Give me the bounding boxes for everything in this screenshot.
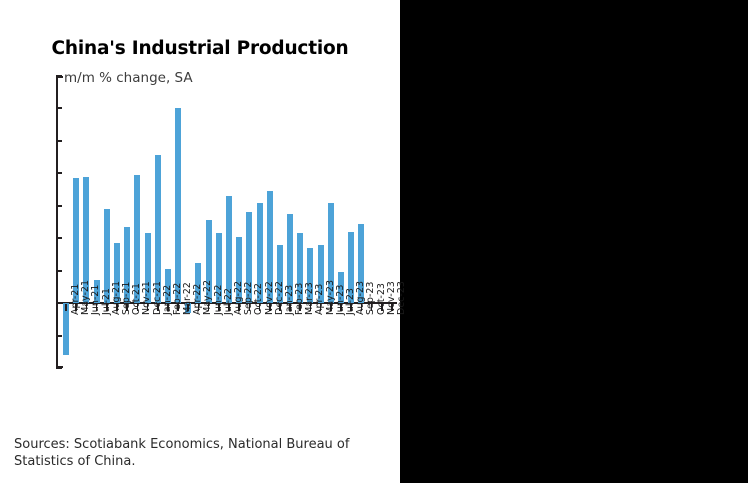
y-axis-tick [56, 107, 62, 109]
source-note: Sources: Scotiabank Economics, National … [14, 436, 389, 470]
x-axis-label: Jul-21 [101, 288, 112, 315]
x-axis-label: Oct-23 [376, 283, 387, 315]
y-axis-line [56, 76, 58, 368]
chart-panel: China's Industrial Production m/m % chan… [0, 0, 400, 483]
x-axis-label: Nov-21 [141, 281, 152, 315]
x-axis-label: Apr-23 [314, 284, 325, 315]
y-axis-tick [56, 75, 62, 77]
x-axis-label: Oct-22 [253, 283, 264, 315]
y-axis-tick [56, 172, 62, 174]
x-axis-label: Dec-23 [396, 281, 407, 315]
x-axis-label: Jun-22 [213, 285, 224, 315]
y-axis-tick [56, 140, 62, 142]
y-axis-tick [56, 335, 62, 337]
y-axis-tick [56, 270, 62, 272]
y-axis-tick [56, 205, 62, 207]
x-axis-label: Dec-21 [152, 281, 163, 315]
x-axis-tick [65, 304, 67, 311]
x-axis-label: May-22 [202, 280, 213, 315]
chart-title: China's Industrial Production [0, 38, 400, 59]
y-axis-tick [56, 367, 62, 369]
bar [175, 108, 181, 303]
x-axis-label: Nov-22 [264, 281, 275, 315]
x-axis-label: May-23 [325, 280, 336, 315]
x-axis-label: Jun-21 [90, 285, 101, 315]
y-axis-tick [56, 302, 62, 304]
plot-area: 1.41.21.00.80.60.40.20.0-0.2-0.4 Apr-21M… [56, 76, 396, 368]
y-axis-tick [56, 237, 62, 239]
x-axis-label: Sep-23 [365, 282, 376, 315]
